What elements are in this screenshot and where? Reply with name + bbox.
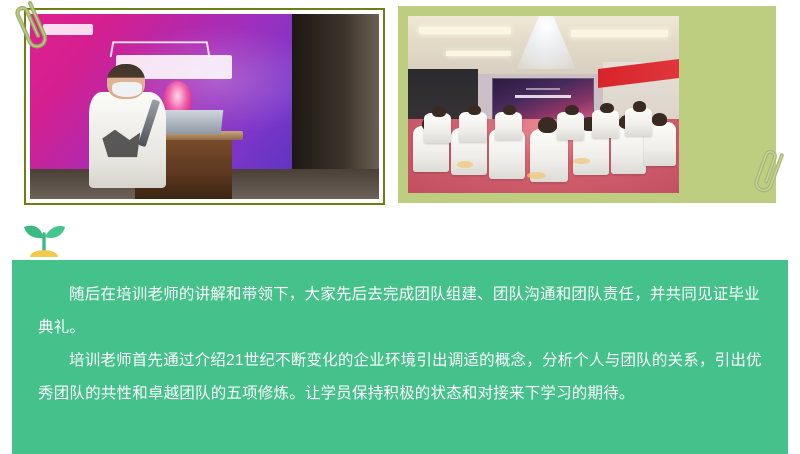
audience-head [652,113,667,125]
audience-chair [592,110,619,138]
article-text-block: 随后在培训老师的讲解和带领下，大家先后去完成团队组建、团队沟通和团队责任，并共同… [12,260,788,454]
carpet-pattern [573,158,589,164]
audience-chair [495,112,522,140]
audience-chair [557,112,584,140]
ceiling-light-strip [446,51,511,55]
audience-head [432,106,446,117]
hall-pillar [292,14,379,184]
ceiling-light-strip [571,30,669,37]
screen-logo [43,24,93,35]
face-mask [112,82,142,97]
sprout-icon [18,220,70,264]
left-photo-image [30,14,379,199]
audience-head [503,105,517,116]
stage-screen-title [515,95,571,98]
article-paragraph-1: 随后在培训老师的讲解和带领下，大家先后去完成团队组建、团队沟通和团队责任，并共同… [38,278,762,344]
carpet-pattern [527,172,546,179]
audience-head [633,101,647,112]
ceiling-light-strip [419,27,511,34]
audience-head [565,105,579,116]
left-photo-card[interactable] [24,8,385,205]
audience-chair [459,112,486,142]
media-row [0,0,800,212]
right-green-panel [398,6,776,203]
audience-head [538,117,557,133]
audience-head [468,105,482,116]
stage-screen-subtitle [526,88,560,90]
laptop [161,110,223,134]
audience-chair [625,108,652,136]
right-photo-image[interactable] [408,16,679,193]
audience-chair [424,113,451,143]
article-paragraph-2: 培训老师首先通过介绍21世纪不断变化的企业环境引出调适的概念，分析个人与团队的关… [38,344,762,410]
audience-head [600,103,614,114]
